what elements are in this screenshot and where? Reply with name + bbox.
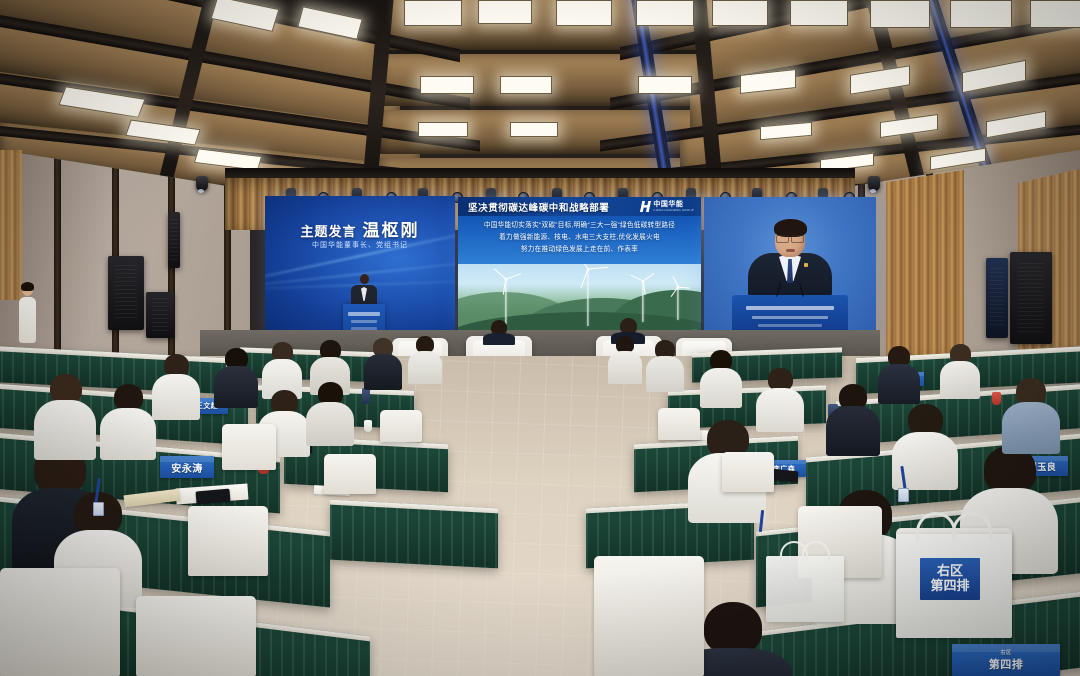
glasses-icon xyxy=(776,235,804,241)
wind-turbine-4 xyxy=(672,286,684,320)
wind-turbine-2 xyxy=(578,268,598,326)
stage-light-bar xyxy=(225,168,855,178)
tote-seat-label: 右区 第四排 xyxy=(920,558,980,600)
chair-back xyxy=(658,408,700,440)
chair-back xyxy=(722,452,774,492)
live-camera-feed-screen[interactable] xyxy=(704,197,876,335)
audience-person xyxy=(214,348,258,406)
audience-person xyxy=(408,336,442,382)
audience-person xyxy=(262,342,302,396)
red-paper-cup-2 xyxy=(992,392,1001,405)
left-line-array-speaker xyxy=(108,256,144,330)
delegate-tote-bag-2 xyxy=(766,556,844,622)
right-wood-slat-panel xyxy=(886,170,964,364)
audience-person xyxy=(152,354,200,416)
name-placard-an-yongtao: 安永涛 xyxy=(160,456,214,478)
audience-person xyxy=(34,374,96,458)
keynote-label: 主题发言 xyxy=(300,224,356,239)
left-column-speaker xyxy=(168,212,180,268)
screen-speaker-figure xyxy=(351,274,377,307)
chair-back xyxy=(136,596,256,676)
slide-body: 中国华能切实落实“双碳”目标,明确“三大一强”绿色低碳转型路径 着力做强新能源、… xyxy=(458,216,701,264)
left-subwoofer xyxy=(146,292,174,338)
audience-person xyxy=(1002,378,1060,450)
wind-turbine-3 xyxy=(636,280,650,322)
presentation-slide-screen[interactable]: 坚决贯彻碳达峰碳中和战略部署 中国华能 CHINA HUANENG GROUP … xyxy=(458,197,701,335)
live-podium xyxy=(732,295,848,335)
conference-hall-photo: 主题发言温枢刚 中国华能董事长、党组书记 坚决贯彻碳达峰碳中和战略部署 中国华能… xyxy=(0,0,1080,676)
keynote-title-screen[interactable]: 主题发言温枢刚 中国华能董事长、党组书记 xyxy=(265,196,455,336)
audience-person xyxy=(940,344,980,396)
delegate-badge xyxy=(93,502,104,516)
chair-back xyxy=(324,454,376,494)
keynote-speaker-name: 温枢刚 xyxy=(363,221,420,240)
keynote-heading: 主题发言温枢刚 xyxy=(265,216,455,241)
audience-person xyxy=(100,384,156,456)
slide-title-bar: 坚决贯彻碳达峰碳中和战略部署 中国华能 CHINA HUANENG GROUP xyxy=(458,197,701,216)
slide-body-line-2: 着力做强新能源、核电、水电三大支柱,优化发展火电 xyxy=(458,232,701,244)
audience-person xyxy=(306,382,354,442)
chair-back xyxy=(0,568,120,676)
slide-body-line-3: 努力在推动绿色发展上走在前、作表率 xyxy=(458,244,701,256)
slide-title: 坚决贯彻碳达峰碳中和战略部署 xyxy=(468,200,609,214)
audience-person xyxy=(756,368,804,428)
wind-turbine-1 xyxy=(498,278,514,324)
table-row-left-inner-4 xyxy=(330,500,498,569)
stage-seated-person-left xyxy=(482,320,516,342)
audience-person xyxy=(364,338,402,388)
audience-person xyxy=(700,350,742,404)
brand-name-en: CHINA HUANENG GROUP xyxy=(653,209,694,212)
white-cup-2 xyxy=(364,420,372,432)
chair-back xyxy=(594,556,704,676)
usher-staff xyxy=(18,284,36,346)
chair-back xyxy=(222,424,276,470)
live-speaker-mouth xyxy=(786,249,795,252)
huaneng-h-mark-icon xyxy=(640,201,651,212)
delegate-tote-bag: 右区 第四排 xyxy=(896,534,1012,638)
brand-name-cn: 中国华能 xyxy=(653,201,694,208)
left-truss-light xyxy=(196,176,208,191)
audience-person xyxy=(608,336,642,382)
blue-tumbler-3 xyxy=(362,388,370,404)
audience-person xyxy=(646,340,684,390)
slide-body-line-1: 中国华能切实落实“双碳”目标,明确“三大一强”绿色低碳转型路径 xyxy=(458,220,701,232)
chair-back xyxy=(380,410,422,442)
bottom-right-banner: 右区 第四排 xyxy=(952,644,1060,676)
delegate-badge-2 xyxy=(898,488,909,502)
lapel-pin-icon xyxy=(804,263,808,267)
left-wood-trim xyxy=(0,150,22,300)
right-truss-light xyxy=(868,176,880,191)
audience-person xyxy=(826,384,880,452)
chair-back xyxy=(188,506,268,576)
right-line-array-speaker xyxy=(1010,252,1052,344)
keynote-subtitle: 中国华能董事长、党组书记 xyxy=(265,240,455,250)
audience-person xyxy=(878,346,920,400)
huaneng-logo: 中国华能 CHINA HUANENG GROUP xyxy=(641,201,694,212)
right-subwoofer xyxy=(986,258,1008,338)
